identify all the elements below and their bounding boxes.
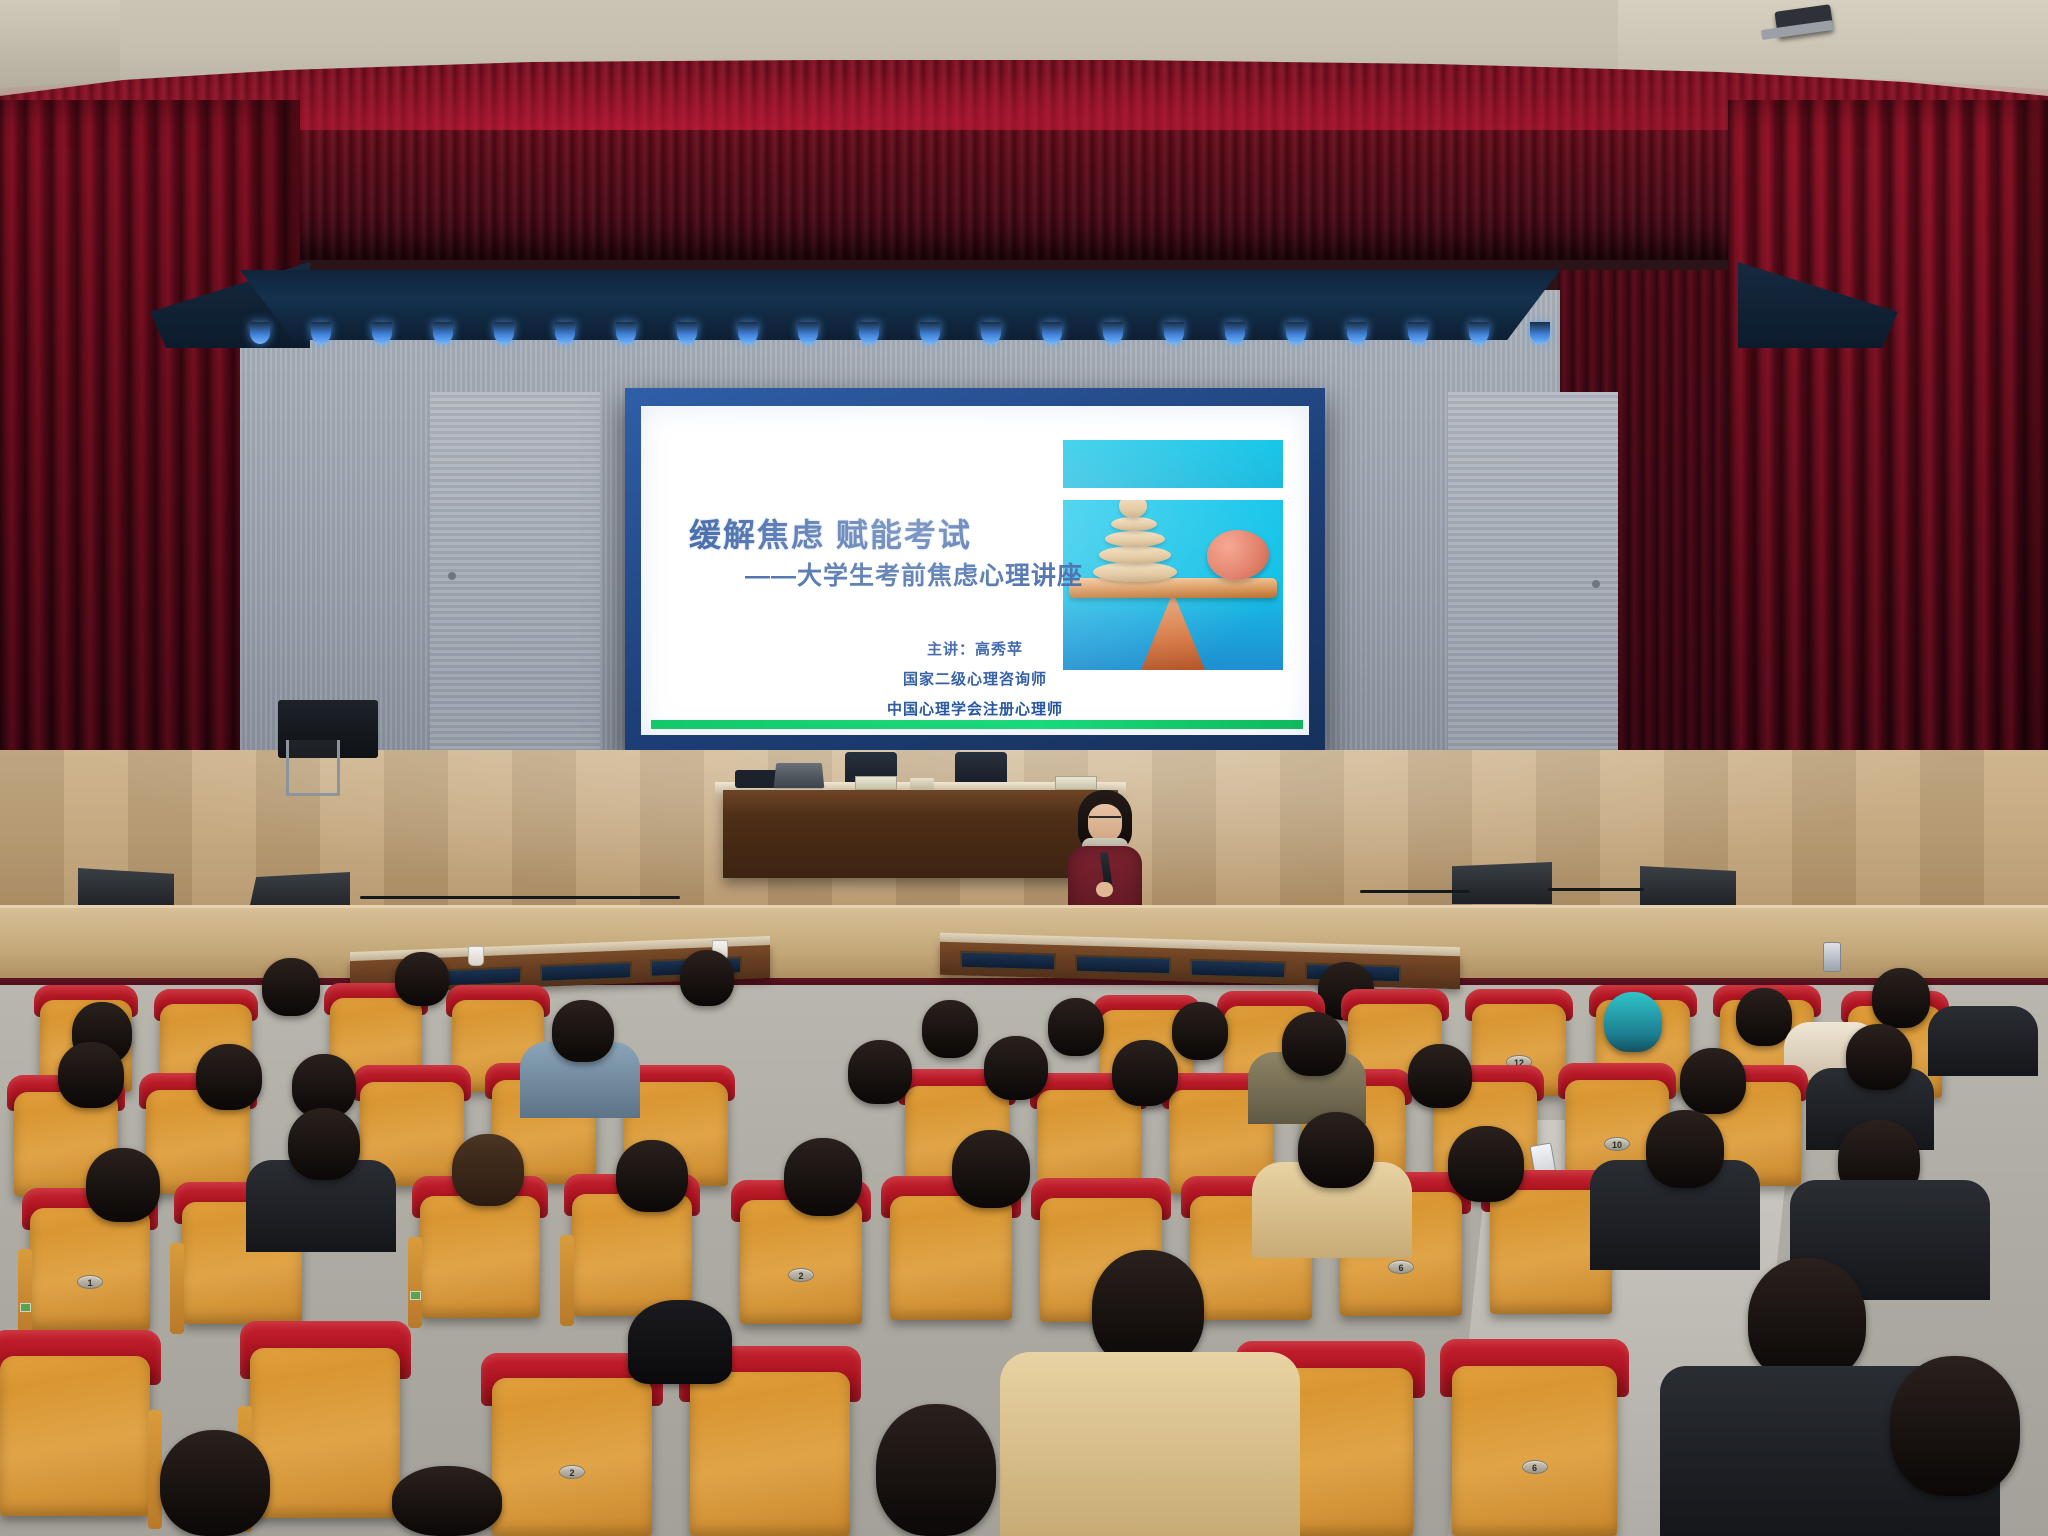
audience-head: [452, 1134, 524, 1206]
audience-head: [196, 1044, 262, 1110]
audience-head: [680, 950, 734, 1006]
stage-lamp-icon: [372, 322, 392, 344]
stage-lamp-icon: [1347, 322, 1367, 344]
stone-icon: [1093, 562, 1177, 582]
audience-head: [984, 1036, 1048, 1100]
desk-monitor: [540, 961, 632, 983]
artwork-top-band: [1063, 440, 1283, 488]
floor-monitor-speaker: [1452, 862, 1552, 904]
slide-artwork-balance-stones: [1063, 440, 1283, 670]
audience-head: [1890, 1356, 2020, 1496]
seat-back: [420, 1196, 540, 1318]
audience-head: [1680, 1048, 1746, 1114]
audience-head: [1112, 1040, 1178, 1106]
truss-lamp-row: [250, 322, 1550, 348]
stage-lamp-icon: [738, 322, 758, 344]
stage-lamp-icon: [1408, 322, 1428, 344]
audience-shoulders: [1928, 1006, 2038, 1076]
seat-number-badge: 6: [1388, 1260, 1414, 1274]
stage-lamp-icon: [798, 322, 818, 344]
auditorium-seat[interactable]: [0, 1356, 150, 1516]
stage-lamp-icon: [1103, 322, 1123, 344]
beverage-can: [1823, 942, 1841, 972]
auditorium-seat[interactable]: 2: [740, 1200, 862, 1324]
slide-title: 缓解焦虑 赋能考试: [689, 510, 972, 556]
auditorium-seat[interactable]: [250, 1348, 400, 1518]
stage-lamp-icon: [920, 322, 940, 344]
acoustic-panel-right: [1448, 392, 1618, 752]
seat-back: [572, 1194, 692, 1316]
audience-head: [58, 1042, 124, 1108]
name-placard: [1055, 776, 1097, 790]
seat-back: [492, 1378, 652, 1536]
acoustic-panel-left: [430, 392, 600, 752]
slide-credential-2: 中国心理学会注册心理师: [641, 698, 1309, 719]
audience-head: [1872, 968, 1930, 1028]
stage-cable: [360, 896, 680, 899]
audience-head: [288, 1108, 360, 1180]
auditorium-seat[interactable]: [690, 1372, 850, 1536]
stage-lamp-icon: [555, 322, 575, 344]
seat-back: [30, 1208, 150, 1330]
floor-monitor-speaker: [1640, 866, 1736, 908]
audience-head: [1172, 1002, 1228, 1060]
seat-number-badge: 6: [1522, 1460, 1548, 1474]
audience-head: [1282, 1012, 1346, 1076]
presentation-slide: 缓解焦虑 赋能考试 ——大学生考前焦虑心理讲座 主讲：高秀苹 国家二级心理咨询师…: [641, 406, 1309, 735]
audience-head: [1048, 998, 1104, 1056]
audience-head: [552, 1000, 614, 1062]
audience-head: [1846, 1024, 1912, 1090]
seat-back: [0, 1356, 150, 1516]
audience-head: [952, 1130, 1030, 1208]
stage-lamp-icon: [981, 322, 1001, 344]
seat-back: [250, 1348, 400, 1518]
auditorium-seat[interactable]: 1: [30, 1208, 150, 1330]
seat-armrest: [170, 1243, 184, 1333]
desk-monitor: [960, 951, 1056, 972]
upper-wall-left: [0, 0, 120, 95]
audience-head: [1092, 1250, 1204, 1368]
stage-lamp-icon: [311, 322, 331, 344]
seat-armrest: [148, 1410, 162, 1528]
audience-head: [876, 1404, 996, 1536]
seat-armrest: [408, 1237, 422, 1327]
desk-monitor: [1075, 955, 1171, 976]
stage-lamp-icon: [1286, 322, 1306, 344]
audience-head-teal-hair: [1604, 992, 1662, 1052]
audience-head: [86, 1148, 160, 1222]
audience-head: [1448, 1126, 1524, 1202]
seat-back: [1452, 1366, 1617, 1536]
audience-shoulders-fur-hood: [1000, 1352, 1300, 1536]
presenter-hand: [1096, 882, 1113, 897]
stone-icon: [1105, 531, 1165, 547]
stage-lamp-icon: [859, 322, 879, 344]
laptop-on-table: [774, 763, 825, 788]
seat-back: [890, 1196, 1012, 1320]
projection-screen-frame: 缓解焦虑 赋能考试 ——大学生考前焦虑心理讲座 主讲：高秀苹 国家二级心理咨询师…: [625, 388, 1325, 753]
floor-monitor-speaker: [78, 868, 174, 910]
stone-icon: [1099, 546, 1171, 564]
auditorium-photo: 缓解焦虑 赋能考试 ——大学生考前焦虑心理讲座 主讲：高秀苹 国家二级心理咨询师…: [0, 0, 2048, 1536]
armrest-label: [410, 1291, 421, 1300]
paper-cup: [468, 946, 484, 966]
seat-armrest: [560, 1235, 574, 1325]
stage-cable: [1548, 888, 1644, 891]
auditorium-seat[interactable]: [890, 1196, 1012, 1320]
audience-head: [1646, 1110, 1724, 1188]
seat-number-badge: 2: [559, 1465, 585, 1479]
audience-head: [784, 1138, 862, 1216]
name-placard: [855, 776, 897, 790]
audience-head: [262, 958, 320, 1016]
slide-subtitle: ——大学生考前焦虑心理讲座: [745, 556, 1083, 592]
stage-lamp-icon: [1530, 322, 1550, 344]
seat-number-badge: 2: [788, 1268, 814, 1282]
auditorium-seat[interactable]: [572, 1194, 692, 1316]
folding-stool: [286, 740, 340, 796]
auditorium-seat[interactable]: 6: [1452, 1366, 1617, 1536]
stone-icon: [1111, 517, 1157, 531]
stage-lamp-icon: [433, 322, 453, 344]
panel-dot-icon: [1592, 580, 1600, 588]
stage-lamp-icon: [1469, 322, 1489, 344]
red-rock-icon: [1207, 530, 1269, 580]
stage-lamp-icon: [250, 322, 270, 344]
seat-back: [740, 1200, 862, 1324]
stage-lamp-icon: [616, 322, 636, 344]
seat-back: [690, 1372, 850, 1536]
stone-icon: [1119, 500, 1147, 518]
head-table: [723, 790, 1118, 878]
audience-head: [395, 952, 449, 1006]
panel-dot-icon: [448, 572, 456, 580]
seat-armrest: [18, 1249, 32, 1339]
audience-head-with-cap: [628, 1300, 732, 1384]
slide-credential-1: 国家二级心理咨询师: [641, 668, 1309, 689]
auditorium-seat[interactable]: 2: [492, 1378, 652, 1536]
stage-cable: [1360, 890, 1470, 893]
audience-head: [1748, 1258, 1866, 1382]
audience-head: [392, 1466, 502, 1536]
balance-plank-shape: [1069, 578, 1277, 598]
seat-number-badge: 10: [1604, 1137, 1630, 1151]
auditorium-seat[interactable]: [420, 1196, 540, 1318]
audience-head: [848, 1040, 912, 1104]
desk-monitor: [1190, 959, 1286, 980]
presenter-face: [1088, 804, 1122, 842]
stage-lamp-icon: [1164, 322, 1184, 344]
slide-presenter: 主讲：高秀苹: [641, 638, 1309, 659]
armrest-label: [20, 1303, 31, 1312]
audience-head: [1298, 1112, 1374, 1188]
stage-lamp-icon: [1042, 322, 1062, 344]
audience-head: [1408, 1044, 1472, 1108]
audience-head: [922, 1000, 978, 1058]
stage-lamp-icon: [494, 322, 514, 344]
table-object: [910, 778, 934, 790]
stage-lamp-icon: [1225, 322, 1245, 344]
stage-lamp-icon: [677, 322, 697, 344]
audience-head: [616, 1140, 688, 1212]
glasses-icon: [1089, 816, 1121, 823]
slide-accent-bar: [651, 720, 1303, 729]
audience-head: [160, 1430, 270, 1536]
seat-number-badge: 1: [77, 1275, 103, 1289]
audience-head: [1736, 988, 1792, 1046]
